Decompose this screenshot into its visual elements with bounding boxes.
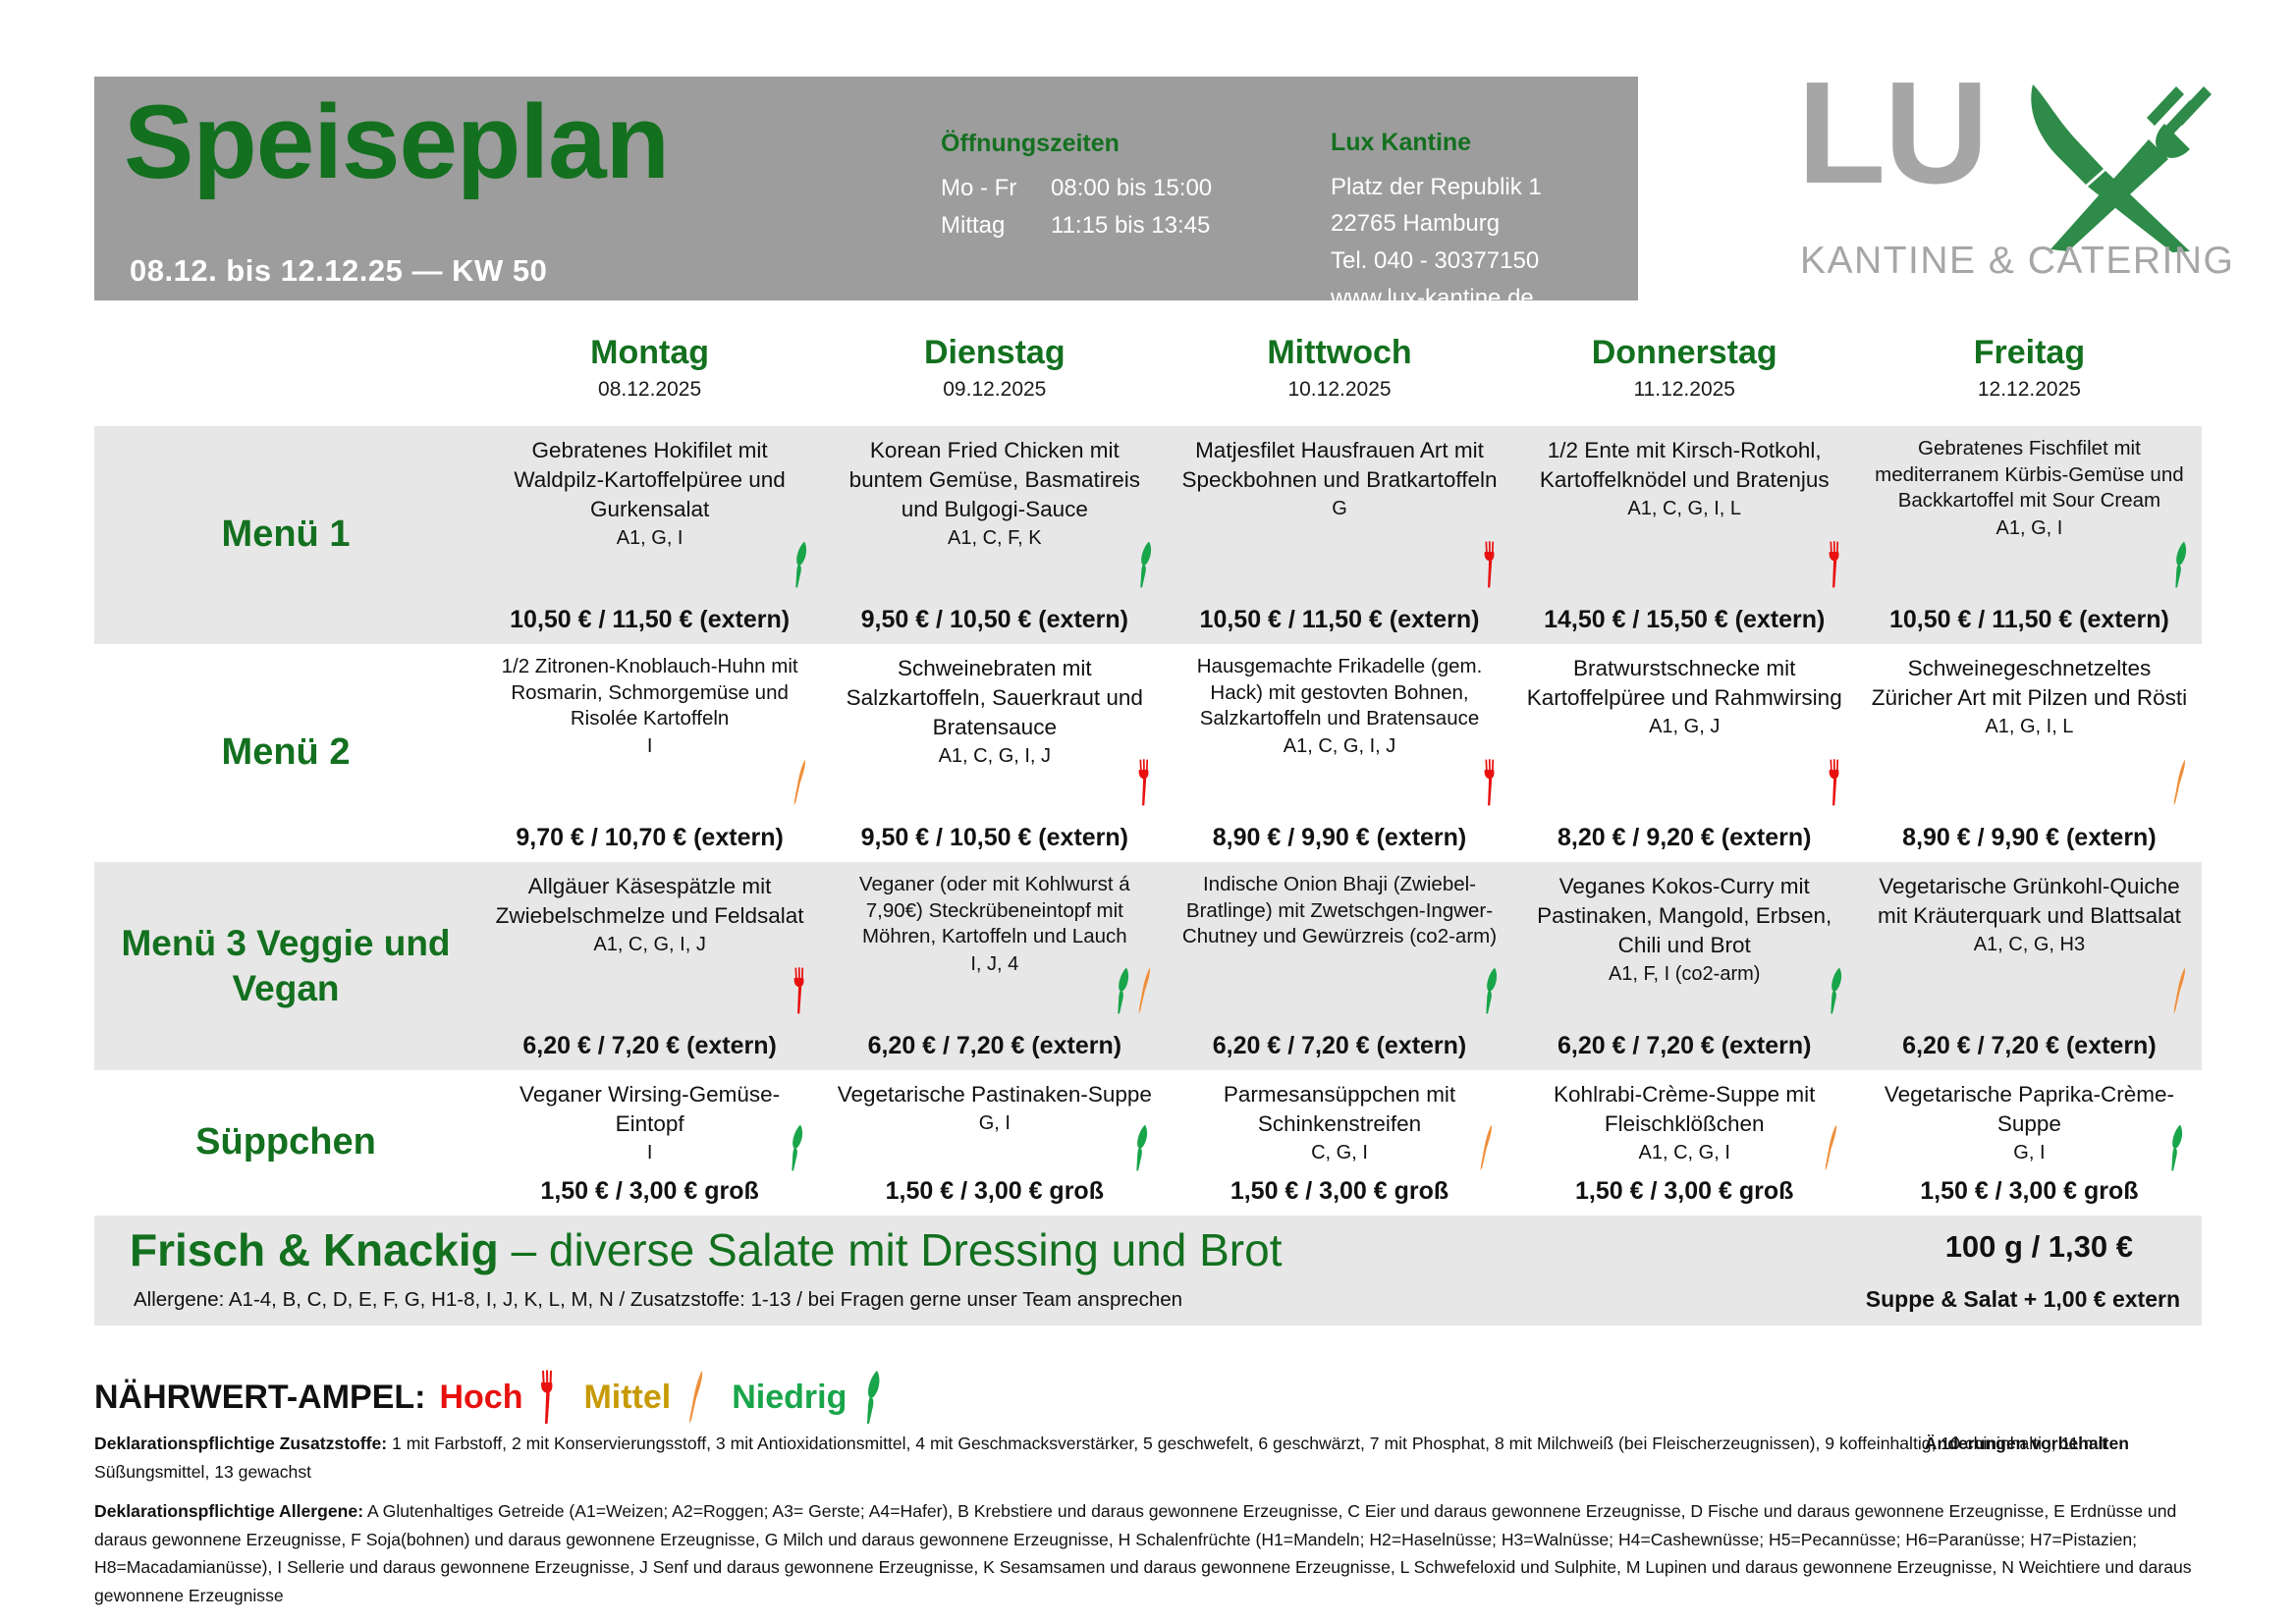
spoon-green-icon [2167, 1121, 2186, 1174]
salad-title-bold: Frisch & Knackig [130, 1224, 499, 1275]
fork-red-icon [1482, 538, 1501, 591]
dish-description: Gebratenes Fischfilet mit mediterranem K… [1871, 436, 2188, 514]
dish-allergens: A1, C, G, I, J [491, 934, 808, 956]
nutrition-icons [2171, 538, 2190, 591]
dish-price: 6,20 € / 7,20 € (extern) [1180, 1032, 1498, 1064]
day-name: Mittwoch [1173, 334, 1505, 372]
category-label-suppchen: Süppchen [94, 1070, 477, 1216]
day-header-corner [94, 332, 477, 404]
nutrition-icons [2171, 964, 2190, 1017]
date-range: 08.12. bis 12.12.25 — KW 50 [130, 253, 547, 289]
dish-price: 6,20 € / 7,20 € (extern) [1526, 1032, 1843, 1064]
opening-hours-row: Mittag 11:15 bis 13:45 [941, 207, 1212, 245]
menu-cell-suppchen-mittwoch: Parmesansüppchen mit SchinkenstreifenC, … [1167, 1070, 1511, 1216]
knife-orange-icon [2171, 756, 2190, 809]
speiseplan-page: Speiseplan 08.12. bis 12.12.25 — KW 50 Ö… [0, 0, 2296, 1623]
salad-banner: Frisch & Knackig – diverse Salate mit Dr… [94, 1216, 2202, 1325]
dish-price: 10,50 € / 11,50 € (extern) [491, 606, 808, 638]
category-label-menu-3-veggie-vegan: Menü 3 Veggie und Vegan [94, 862, 477, 1070]
fork-red-icon [1827, 538, 1845, 591]
knife-orange-icon [1823, 1121, 1841, 1174]
nutrition-icons [1482, 538, 1501, 591]
dish-price: 8,20 € / 9,20 € (extern) [1526, 824, 1843, 856]
dish-price: 6,20 € / 7,20 € (extern) [836, 1032, 1153, 1064]
menu-cell-suppchen-donnerstag: Kohlrabi-Crème-Suppe mit Fleischklößchen… [1512, 1070, 1857, 1216]
nutrition-icons [1823, 1121, 1841, 1174]
spoon-green-icon [1827, 964, 1845, 1017]
nutrition-icons [1827, 964, 1845, 1017]
day-name: Dienstag [828, 334, 1161, 372]
nutrition-icons [792, 538, 810, 591]
spoon-green-icon [1136, 538, 1155, 591]
dish-description: Kohlrabi-Crème-Suppe mit Fleischklößchen [1526, 1080, 1843, 1139]
dish-price: 6,20 € / 7,20 € (extern) [491, 1032, 808, 1064]
menu-cell-menu-3-veggie-vegan-dienstag: Veganer (oder mit Kohlwurst á 7,90€) Ste… [822, 862, 1167, 1070]
nutrition-icons [1482, 756, 1501, 809]
nutrition-icons [788, 1121, 806, 1174]
dish-price: 8,90 € / 9,90 € (extern) [1180, 824, 1498, 856]
menu-cell-suppchen-dienstag: Vegetarische Pastinaken-SuppeG, I1,50 € … [822, 1070, 1167, 1216]
day-header-freitag: Freitag 12.12.2025 [1857, 332, 2202, 404]
dish-allergens: I [491, 735, 808, 758]
nutrition-icons [1482, 964, 1501, 1017]
dish-price: 1,50 € / 3,00 € groß [1526, 1177, 1843, 1210]
dish-allergens: A1, C, G, I, J [1180, 735, 1498, 758]
dish-allergens: I, J, 4 [836, 953, 1153, 976]
dish-price: 10,50 € / 11,50 € (extern) [1180, 606, 1498, 638]
day-date: 09.12.2025 [828, 378, 1161, 402]
spoon-green-icon [792, 538, 810, 591]
dish-description: Allgäuer Käsespätzle mit Zwiebelschmelze… [491, 872, 808, 931]
dish-description: 1/2 Ente mit Kirsch-Rotkohl, Kartoffelkn… [1526, 436, 1843, 495]
fork-red-icon [1827, 756, 1845, 809]
page-title: Speiseplan [124, 86, 669, 196]
dish-description: Parmesansüppchen mit Schinkenstreifen [1180, 1080, 1498, 1139]
dish-allergens: C, G, I [1180, 1142, 1498, 1164]
dish-price: 10,50 € / 11,50 € (extern) [1871, 606, 2188, 638]
menu-cell-menu-1-montag: Gebratenes Hokifilet mit Waldpilz-Kartof… [477, 426, 822, 644]
nutrition-icons [1827, 538, 1845, 591]
dish-allergens: I [491, 1142, 808, 1164]
ampel-low-label: Niedrig [732, 1379, 847, 1417]
dish-allergens: A1, C, G, I, J [836, 745, 1153, 768]
opening-hours-title: Öffnungszeiten [941, 124, 1212, 164]
menu-cell-menu-2-freitag: Schweinegeschnetzeltes Züricher Art mit … [1857, 644, 2202, 862]
dish-allergens: A1, C, G, I [1526, 1142, 1843, 1164]
lux-logo: LU KANTINE & CATERING [1797, 61, 2210, 306]
allergene-label: Deklarationspflichtige Allergene: [94, 1501, 363, 1521]
dish-price: 9,50 € / 10,50 € (extern) [836, 606, 1153, 638]
hours-value-weekdays: 08:00 bis 15:00 [1051, 170, 1212, 208]
menu-cell-menu-2-mittwoch: Hausgemachte Frikadelle (gem. Hack) mit … [1167, 644, 1511, 862]
hours-value-lunch: 11:15 bis 13:45 [1051, 207, 1210, 245]
dish-description: Matjesfilet Hausfrauen Art mit Speckbohn… [1180, 436, 1498, 495]
ampel-title: NÄHRWERT-AMPEL: [94, 1379, 425, 1417]
menu-row-menu-3-veggie-vegan: Menü 3 Veggie und VeganAllgäuer Käsespät… [94, 862, 2202, 1070]
dish-description: Veganer Wirsing-Gemüse-Eintopf [491, 1080, 808, 1139]
menu-cell-menu-3-veggie-vegan-donnerstag: Veganes Kokos-Curry mit Pastinaken, Mang… [1512, 862, 1857, 1070]
salad-title-rest: – diverse Salate mit Dressing und Brot [512, 1224, 1283, 1275]
allergene-text: A Glutenhaltiges Getreide (A1=Weizen; A2… [94, 1501, 2192, 1605]
knife-orange-icon [1136, 964, 1155, 1017]
spoon-green-icon [1482, 964, 1501, 1017]
fork-knife-cross-icon [2025, 79, 2212, 258]
knife-orange-icon [2171, 964, 2190, 1017]
nutrition-icons [1827, 756, 1845, 809]
nutrition-icons [792, 964, 810, 1017]
nutrition-icons [2167, 1121, 2186, 1174]
menu-cell-menu-3-veggie-vegan-freitag: Vegetarische Grünkohl-Quiche mit Kräuter… [1857, 862, 2202, 1070]
footer-declarations: Deklarationspflichtige Zusatzstoffe: 1 m… [94, 1430, 2206, 1621]
allergene-paragraph: Deklarationspflichtige Allergene: A Glut… [94, 1497, 2206, 1609]
dish-description: Schweinebraten mit Salzkartoffeln, Sauer… [836, 654, 1153, 742]
spoon-green-icon [1132, 1121, 1151, 1174]
dish-price: 9,50 € / 10,50 € (extern) [836, 824, 1153, 856]
address-block: Lux Kantine Platz der Republik 1 22765 H… [1331, 124, 1542, 317]
salad-title: Frisch & Knackig – diverse Salate mit Dr… [130, 1223, 1282, 1276]
menu-row-suppchen: SüppchenVeganer Wirsing-Gemüse-EintopfI1… [94, 1070, 2202, 1216]
dish-description: Vegetarische Paprika-Crème-Suppe [1871, 1080, 2188, 1139]
dish-description: Schweinegeschnetzeltes Züricher Art mit … [1871, 654, 2188, 713]
day-header-mittwoch: Mittwoch 10.12.2025 [1167, 332, 1511, 404]
dish-allergens: G [1180, 498, 1498, 520]
day-name: Donnerstag [1518, 334, 1851, 372]
menu-cell-menu-2-donnerstag: Bratwurstschnecke mit Kartoffelpüree und… [1512, 644, 1857, 862]
dish-price: 8,90 € / 9,90 € (extern) [1871, 824, 2188, 856]
spoon-green-icon [788, 1121, 806, 1174]
address-phone: Tel. 040 - 30377150 [1331, 243, 1542, 280]
nutrition-traffic-light-legend: NÄHRWERT-AMPEL: Hoch Mittel Niedrig [94, 1369, 894, 1426]
menu-table: Menü 1Gebratenes Hokifilet mit Waldpilz-… [94, 426, 2202, 1216]
dish-allergens: A1, C, F, K [836, 527, 1153, 550]
dish-allergens: A1, G, I [1871, 517, 2188, 540]
spoon-green-icon [1114, 964, 1132, 1017]
menu-row-menu-2: Menü 21/2 Zitronen-Knoblauch-Huhn mit Ro… [94, 644, 2202, 862]
dish-description: Vegetarische Grünkohl-Quiche mit Kräuter… [1871, 872, 2188, 931]
day-header-montag: Montag 08.12.2025 [477, 332, 822, 404]
nutrition-icons [1136, 538, 1155, 591]
salad-price: 100 g / 1,30 € [1945, 1229, 2133, 1265]
fork-red-icon [792, 964, 810, 1017]
day-date: 10.12.2025 [1173, 378, 1505, 402]
dish-price: 14,50 € / 15,50 € (extern) [1526, 606, 1843, 638]
menu-cell-menu-3-veggie-vegan-montag: Allgäuer Käsespätzle mit Zwiebelschmelze… [477, 862, 822, 1070]
dish-price: 1,50 € / 3,00 € groß [836, 1177, 1153, 1210]
logo-wordmark: LU [1797, 61, 1987, 206]
dish-description: Indische Onion Bhaji (Zwiebel-Bratlinge)… [1180, 872, 1498, 950]
day-header-donnerstag: Donnerstag 11.12.2025 [1512, 332, 1857, 404]
spoon-green-icon [862, 1369, 884, 1426]
opening-hours-block: Öffnungszeiten Mo - Fr 08:00 bis 15:00 M… [941, 124, 1212, 245]
dish-description: Hausgemachte Frikadelle (gem. Hack) mit … [1180, 654, 1498, 732]
zusatzstoffe-label: Deklarationspflichtige Zusatzstoffe: [94, 1434, 387, 1453]
dish-allergens: A1, G, I [491, 527, 808, 550]
logo-subtitle: KANTINE & CATERING [1800, 240, 2234, 283]
opening-hours-row: Mo - Fr 08:00 bis 15:00 [941, 170, 1212, 208]
dish-price: 1,50 € / 3,00 € groß [491, 1177, 808, 1210]
menu-cell-menu-1-donnerstag: 1/2 Ente mit Kirsch-Rotkohl, Kartoffelkn… [1512, 426, 1857, 644]
day-name: Montag [483, 334, 816, 372]
menu-row-menu-1: Menü 1Gebratenes Hokifilet mit Waldpilz-… [94, 426, 2202, 644]
dish-allergens: A1, G, I, L [1871, 716, 2188, 738]
dish-description: Vegetarische Pastinaken-Suppe [836, 1080, 1153, 1109]
fork-red-icon [538, 1369, 560, 1426]
dish-price: 6,20 € / 7,20 € (extern) [1871, 1032, 2188, 1064]
dish-price: 1,50 € / 3,00 € groß [1871, 1177, 2188, 1210]
dish-allergens: G, I [836, 1112, 1153, 1135]
day-date: 11.12.2025 [1518, 378, 1851, 402]
soup-salad-surcharge: Suppe & Salat + 1,00 € extern [1866, 1286, 2180, 1313]
salad-allergens-line: Allergene: A1-4, B, C, D, E, F, G, H1-8,… [134, 1288, 1182, 1312]
spoon-green-icon [2171, 538, 2190, 591]
address-street: Platz der Republik 1 [1331, 169, 1542, 206]
dish-description: 1/2 Zitronen-Knoblauch-Huhn mit Rosmarin… [491, 654, 808, 732]
zusatzstoffe-paragraph: Deklarationspflichtige Zusatzstoffe: 1 m… [94, 1430, 2206, 1486]
address-website[interactable]: www.lux-kantine.de [1331, 280, 1542, 317]
dish-description: Bratwurstschnecke mit Kartoffelpüree und… [1526, 654, 1843, 713]
zusatzstoffe-text: 1 mit Farbstoff, 2 mit Konservierungssto… [94, 1434, 2106, 1482]
menu-cell-menu-1-dienstag: Korean Fried Chicken mit buntem Gemüse, … [822, 426, 1167, 644]
dish-description: Veganes Kokos-Curry mit Pastinaken, Mang… [1526, 872, 1843, 960]
nutrition-icons [2171, 756, 2190, 809]
category-label-menu-2: Menü 2 [94, 644, 477, 862]
day-name: Freitag [1863, 334, 2196, 372]
company-name: Lux Kantine [1331, 124, 1542, 163]
category-label-menu-1: Menü 1 [94, 426, 477, 644]
menu-cell-menu-1-freitag: Gebratenes Fischfilet mit mediterranem K… [1857, 426, 2202, 644]
dish-description: Gebratenes Hokifilet mit Waldpilz-Kartof… [491, 436, 808, 524]
day-header-row: Montag 08.12.2025 Dienstag 09.12.2025 Mi… [94, 332, 2202, 404]
menu-cell-menu-2-dienstag: Schweinebraten mit Salzkartoffeln, Sauer… [822, 644, 1167, 862]
fork-red-icon [1482, 756, 1501, 809]
knife-orange-icon [792, 756, 810, 809]
menu-cell-menu-3-veggie-vegan-mittwoch: Indische Onion Bhaji (Zwiebel-Bratlinge)… [1167, 862, 1511, 1070]
ampel-high-label: Hoch [439, 1379, 522, 1417]
day-header-dienstag: Dienstag 09.12.2025 [822, 332, 1167, 404]
menu-cell-suppchen-freitag: Vegetarische Paprika-Crème-SuppeG, I1,50… [1857, 1070, 2202, 1216]
hours-label-lunch: Mittag [941, 207, 1051, 245]
fork-red-icon [1136, 756, 1155, 809]
dish-allergens: G, I [1871, 1142, 2188, 1164]
nutrition-icons [792, 756, 810, 809]
menu-cell-menu-2-montag: 1/2 Zitronen-Knoblauch-Huhn mit Rosmarin… [477, 644, 822, 862]
day-date: 12.12.2025 [1863, 378, 2196, 402]
hours-label-weekdays: Mo - Fr [941, 170, 1051, 208]
dish-description: Korean Fried Chicken mit buntem Gemüse, … [836, 436, 1153, 524]
dish-allergens: A1, G, J [1526, 716, 1843, 738]
knife-orange-icon [686, 1369, 708, 1426]
dish-allergens: A1, F, I (co2-arm) [1526, 963, 1843, 986]
nutrition-icons [1132, 1121, 1151, 1174]
menu-cell-suppchen-montag: Veganer Wirsing-Gemüse-EintopfI1,50 € / … [477, 1070, 822, 1216]
dish-allergens: A1, C, G, I, L [1526, 498, 1843, 520]
changes-reserved-note: Änderungen vorbehalten [1925, 1430, 2129, 1458]
dish-price: 9,70 € / 10,70 € (extern) [491, 824, 808, 856]
nutrition-icons [1136, 756, 1155, 809]
knife-orange-icon [1478, 1121, 1497, 1174]
ampel-medium-label: Mittel [583, 1379, 671, 1417]
nutrition-icons [1478, 1121, 1497, 1174]
day-date: 08.12.2025 [483, 378, 816, 402]
dish-price: 1,50 € / 3,00 € groß [1180, 1177, 1498, 1210]
address-city: 22765 Hamburg [1331, 205, 1542, 243]
nutrition-icons [1114, 964, 1155, 1017]
dish-allergens: A1, C, G, H3 [1871, 934, 2188, 956]
menu-cell-menu-1-mittwoch: Matjesfilet Hausfrauen Art mit Speckbohn… [1167, 426, 1511, 644]
dish-description: Veganer (oder mit Kohlwurst á 7,90€) Ste… [836, 872, 1153, 950]
